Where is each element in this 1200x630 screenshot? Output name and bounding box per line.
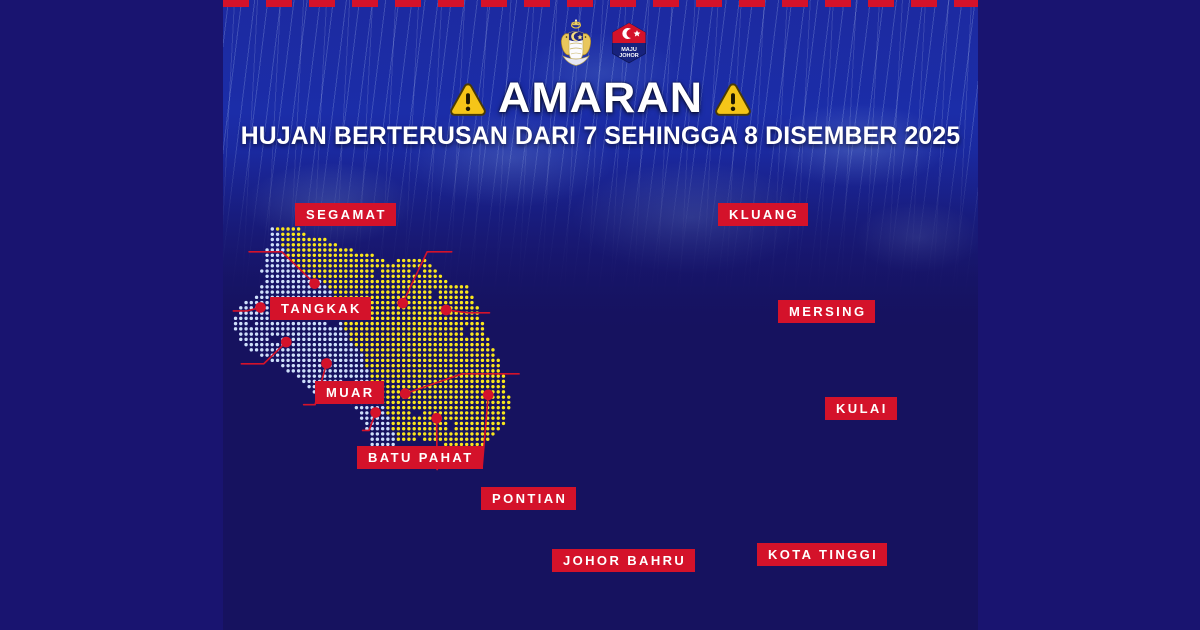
map-dot-warning [381, 322, 384, 325]
map-dot-warning [486, 432, 489, 435]
map-dot-normal [302, 338, 305, 341]
map-dot-normal [265, 332, 268, 335]
map-dot-warning [470, 364, 473, 367]
map-dot-warning [360, 332, 363, 335]
map-dot-warning [376, 364, 379, 367]
map-dot-warning [502, 374, 505, 377]
map-dot-normal [265, 296, 268, 299]
map-dot-warning [455, 401, 458, 404]
map-dot-warning [376, 322, 379, 325]
map-dot-normal [302, 353, 305, 356]
map-dot-warning [423, 380, 426, 383]
map-dot-normal [234, 327, 237, 330]
map-dot-warning [381, 285, 384, 288]
map-dot-normal [313, 369, 316, 372]
map-dot-warning [502, 395, 505, 398]
map-dot-warning [355, 322, 358, 325]
map-dot-warning [428, 416, 431, 419]
map-dot-warning [407, 306, 410, 309]
map-dot-warning [460, 390, 463, 393]
map-dot-normal [271, 327, 274, 330]
map-dot-warning [281, 243, 284, 246]
map-dot-normal [244, 317, 247, 320]
map-dot-normal [381, 406, 384, 409]
map-dot-normal [355, 369, 358, 372]
map-dot-normal [339, 353, 342, 356]
map-dot-normal [250, 343, 253, 346]
map-dot-warning [433, 332, 436, 335]
map-dot-warning [460, 348, 463, 351]
map-dot-warning [376, 332, 379, 335]
map-dot-warning [470, 427, 473, 430]
map-dot-warning [455, 385, 458, 388]
map-dot-warning [476, 338, 479, 341]
map-dot-warning [370, 374, 373, 377]
map-dot-warning [281, 233, 284, 236]
map-dot-normal [271, 269, 274, 272]
map-dot-normal [276, 243, 279, 246]
map-dot-warning [439, 427, 442, 430]
map-dot-warning [381, 296, 384, 299]
map-dot-normal [265, 348, 268, 351]
map-dot-warning [455, 369, 458, 372]
map-dot-warning [444, 374, 447, 377]
map-dot-normal [271, 348, 274, 351]
map-dot-warning [386, 322, 389, 325]
map-dot-warning [418, 359, 421, 362]
map-dot-warning [491, 380, 494, 383]
map-dot-warning [297, 227, 300, 230]
map-dot-warning [481, 406, 484, 409]
map-dot-warning [465, 422, 468, 425]
map-dot-warning [407, 332, 410, 335]
map-dot-warning [391, 374, 394, 377]
map-dot-warning [412, 348, 415, 351]
map-dot-warning [423, 338, 426, 341]
map-dot-normal [339, 332, 342, 335]
map-dot-warning [423, 359, 426, 362]
map-dot-normal [271, 233, 274, 236]
map-label-pontian[interactable]: PONTIAN [481, 487, 576, 510]
map-dot-warning [455, 364, 458, 367]
map-dot-warning [465, 374, 468, 377]
map-dot-warning [439, 280, 442, 283]
map-dot-warning [412, 380, 415, 383]
map-dot-warning [349, 254, 352, 257]
map-dot-warning [460, 427, 463, 430]
map-marker-kulai[interactable] [400, 388, 411, 399]
map-dot-warning [334, 264, 337, 267]
map-dot-normal [376, 432, 379, 435]
map-dot-warning [360, 280, 363, 283]
map-dot-warning [402, 343, 405, 346]
map-dot-warning [497, 422, 500, 425]
map-dot-warning [465, 369, 468, 372]
map-dot-warning [407, 359, 410, 362]
map-dot-warning [439, 317, 442, 320]
map-dot-warning [486, 427, 489, 430]
map-dot-warning [439, 285, 442, 288]
map-dot-warning [444, 401, 447, 404]
map-dot-normal [239, 306, 242, 309]
map-dot-warning [491, 369, 494, 372]
right-letterbox-panel [978, 0, 1200, 630]
map-dot-warning [476, 385, 479, 388]
map-dot-warning [418, 364, 421, 367]
map-dot-warning [418, 338, 421, 341]
map-dot-normal [260, 296, 263, 299]
map-dot-warning [349, 327, 352, 330]
map-dot-normal [307, 332, 310, 335]
map-dot-normal [244, 327, 247, 330]
map-label-kluang[interactable]: KLUANG [718, 203, 808, 226]
map-dot-normal [260, 343, 263, 346]
map-dot-warning [402, 338, 405, 341]
map-dot-normal [386, 422, 389, 425]
map-dot-warning [433, 285, 436, 288]
map-dot-warning [386, 343, 389, 346]
map-dot-warning [470, 369, 473, 372]
map-dot-warning [407, 264, 410, 267]
map-dot-normal [323, 353, 326, 356]
map-dot-warning [407, 338, 410, 341]
map-dot-warning [402, 327, 405, 330]
map-dot-warning [402, 348, 405, 351]
map-dot-warning [449, 285, 452, 288]
map-dot-warning [397, 311, 400, 314]
map-dot-warning [402, 422, 405, 425]
map-dot-warning [386, 380, 389, 383]
map-label-batu-pahat[interactable]: BATU PAHAT [357, 446, 483, 469]
map-dot-warning [391, 390, 394, 393]
map-dot-warning [407, 317, 410, 320]
map-dot-warning [349, 290, 352, 293]
map-dot-warning [481, 380, 484, 383]
map-dot-warning [407, 437, 410, 440]
map-marker-muar[interactable] [281, 337, 292, 348]
map-dot-warning [328, 264, 331, 267]
map-dot-warning [465, 406, 468, 409]
map-dot-warning [497, 411, 500, 414]
map-dot-warning [486, 359, 489, 362]
map-dot-warning [449, 437, 452, 440]
map-dot-warning [470, 416, 473, 419]
map-dot-normal [339, 338, 342, 341]
map-dot-warning [428, 322, 431, 325]
map-dot-warning [397, 269, 400, 272]
map-dot-warning [344, 254, 347, 257]
map-dot-warning [370, 327, 373, 330]
map-dot-warning [455, 427, 458, 430]
map-dot-normal [271, 332, 274, 335]
map-dot-normal [250, 332, 253, 335]
map-dot-warning [376, 301, 379, 304]
map-dot-normal [297, 285, 300, 288]
map-dot-warning [497, 395, 500, 398]
map-dot-warning [428, 301, 431, 304]
map-dot-warning [386, 275, 389, 278]
map-dot-warning [412, 359, 415, 362]
map-dot-warning [428, 296, 431, 299]
map-dot-warning [386, 353, 389, 356]
map-label-tangkak[interactable]: TANGKAK [270, 297, 371, 320]
map-dot-warning [339, 264, 342, 267]
map-dot-warning [455, 285, 458, 288]
map-dot-warning [402, 332, 405, 335]
map-dot-warning [339, 259, 342, 262]
map-dot-warning [412, 395, 415, 398]
map-dot-warning [460, 437, 463, 440]
map-dot-warning [476, 332, 479, 335]
map-dot-warning [428, 280, 431, 283]
map-marker-mersing[interactable] [441, 305, 452, 316]
map-dot-warning [470, 296, 473, 299]
map-dot-normal [239, 311, 242, 314]
map-dot-warning [334, 285, 337, 288]
map-dot-warning [328, 254, 331, 257]
map-dot-warning [381, 364, 384, 367]
map-dot-normal [381, 422, 384, 425]
map-dot-warning [397, 401, 400, 404]
map-dot-warning [292, 243, 295, 246]
map-dot-warning [502, 380, 505, 383]
map-dot-warning [423, 280, 426, 283]
map-dot-warning [386, 306, 389, 309]
map-dot-normal [386, 427, 389, 430]
map-dot-normal [297, 359, 300, 362]
map-dot-warning [433, 401, 436, 404]
map-dot-warning [502, 401, 505, 404]
map-dot-warning [423, 422, 426, 425]
map-dot-normal [302, 380, 305, 383]
map-dot-warning [276, 227, 279, 230]
map-dot-warning [481, 338, 484, 341]
map-dot-warning [444, 385, 447, 388]
map-dot-normal [328, 374, 331, 377]
map-dot-warning [491, 353, 494, 356]
map-dot-warning [444, 432, 447, 435]
map-dot-normal [244, 306, 247, 309]
map-dot-warning [407, 311, 410, 314]
map-dot-warning [418, 290, 421, 293]
map-dot-warning [470, 353, 473, 356]
map-dot-warning [323, 254, 326, 257]
map-dot-warning [460, 353, 463, 356]
map-dot-normal [260, 332, 263, 335]
map-dot-warning [439, 322, 442, 325]
map-dot-normal [260, 322, 263, 325]
map-dot-normal [255, 327, 258, 330]
map-dot-warning [449, 290, 452, 293]
map-dot-warning [402, 290, 405, 293]
map-dot-warning [386, 359, 389, 362]
map-dot-warning [381, 290, 384, 293]
map-dot-warning [423, 332, 426, 335]
map-dot-warning [344, 275, 347, 278]
map-dot-warning [323, 259, 326, 262]
map-dot-normal [276, 322, 279, 325]
map-dot-warning [412, 301, 415, 304]
map-dot-warning [476, 380, 479, 383]
map-dot-normal [302, 322, 305, 325]
map-dot-warning [365, 275, 368, 278]
map-dot-warning [407, 296, 410, 299]
map-dot-warning [412, 290, 415, 293]
map-dot-warning [418, 353, 421, 356]
map-dot-normal [349, 348, 352, 351]
map-dot-warning [423, 275, 426, 278]
map-dot-normal [313, 290, 316, 293]
map-dot-warning [407, 327, 410, 330]
map-dot-warning [476, 374, 479, 377]
map-label-muar[interactable]: MUAR [315, 381, 384, 404]
map-dot-warning [465, 380, 468, 383]
map-dot-normal [339, 327, 342, 330]
map-dot-warning [470, 374, 473, 377]
map-dot-normal [286, 369, 289, 372]
map-marker-batu-pahat[interactable] [321, 358, 332, 369]
map-dot-normal [281, 322, 284, 325]
map-dot-warning [433, 322, 436, 325]
map-marker-tangkak[interactable] [255, 302, 266, 313]
map-marker-segamat[interactable] [309, 278, 320, 289]
map-dot-normal [365, 406, 368, 409]
map-dot-warning [391, 338, 394, 341]
map-dot-warning [307, 248, 310, 251]
map-marker-johor-bahru[interactable] [431, 413, 442, 424]
map-label-johor-bahru[interactable]: JOHOR BAHRU [552, 549, 695, 572]
map-dot-warning [491, 406, 494, 409]
map-dot-warning [391, 401, 394, 404]
map-dot-warning [365, 327, 368, 330]
map-dot-warning [439, 369, 442, 372]
map-dot-normal [360, 411, 363, 414]
map-dot-warning [402, 432, 405, 435]
map-dot-warning [470, 437, 473, 440]
map-dot-warning [444, 437, 447, 440]
map-dot-warning [386, 301, 389, 304]
map-dot-warning [423, 343, 426, 346]
map-dot-normal [265, 254, 268, 257]
map-dot-normal [297, 374, 300, 377]
map-dot-warning [370, 285, 373, 288]
map-dot-warning [428, 338, 431, 341]
map-dot-warning [428, 364, 431, 367]
map-dot-normal [292, 353, 295, 356]
map-dot-warning [465, 348, 468, 351]
map-dot-warning [455, 380, 458, 383]
map-dot-warning [428, 427, 431, 430]
map-dot-normal [307, 290, 310, 293]
map-dot-warning [407, 427, 410, 430]
map-dot-normal [265, 290, 268, 293]
map-dot-warning [386, 285, 389, 288]
map-dot-normal [276, 280, 279, 283]
map-dot-warning [418, 332, 421, 335]
map-dot-normal [292, 290, 295, 293]
map-dot-normal [271, 254, 274, 257]
map-label-kota-tinggi[interactable]: KOTA TINGGI [757, 543, 887, 566]
map-dot-warning [449, 411, 452, 414]
map-dot-warning [444, 422, 447, 425]
map-dot-normal [244, 338, 247, 341]
map-dot-normal [334, 338, 337, 341]
map-dot-warning [402, 269, 405, 272]
map-label-segamat[interactable]: SEGAMAT [295, 203, 396, 226]
map-dot-warning [407, 275, 410, 278]
map-dot-normal [318, 322, 321, 325]
map-dot-warning [302, 238, 305, 241]
map-dot-warning [449, 296, 452, 299]
map-dot-warning [370, 369, 373, 372]
map-dot-warning [297, 243, 300, 246]
map-dot-warning [439, 343, 442, 346]
map-dot-warning [402, 364, 405, 367]
map-dot-warning [391, 296, 394, 299]
map-dot-warning [402, 411, 405, 414]
map-dot-warning [423, 432, 426, 435]
map-dot-warning [481, 332, 484, 335]
map-dot-warning [428, 401, 431, 404]
map-label-kulai[interactable]: KULAI [825, 397, 897, 420]
map-dot-warning [465, 353, 468, 356]
map-label-mersing[interactable]: MERSING [778, 300, 875, 323]
map-dot-normal [239, 332, 242, 335]
map-dot-warning [381, 332, 384, 335]
map-dot-warning [439, 338, 442, 341]
map-dot-warning [449, 432, 452, 435]
map-marker-pontian[interactable] [370, 407, 381, 418]
map-dot-warning [476, 343, 479, 346]
map-dot-warning [481, 359, 484, 362]
map-dot-warning [507, 406, 510, 409]
map-dot-warning [423, 348, 426, 351]
map-dot-warning [355, 332, 358, 335]
map-dot-warning [476, 306, 479, 309]
map-dot-warning [444, 301, 447, 304]
map-dot-normal [265, 269, 268, 272]
map-dot-warning [476, 364, 479, 367]
map-dot-warning [391, 359, 394, 362]
map-dot-warning [376, 369, 379, 372]
map-dot-normal [376, 422, 379, 425]
map-dot-warning [465, 364, 468, 367]
map-dot-normal [328, 343, 331, 346]
map-marker-kluang[interactable] [397, 298, 408, 309]
map-dot-warning [402, 275, 405, 278]
map-dot-normal [360, 353, 363, 356]
map-dot-warning [412, 264, 415, 267]
map-dot-normal [313, 327, 316, 330]
map-dot-warning [444, 317, 447, 320]
map-dot-normal [250, 327, 253, 330]
map-dot-warning [486, 385, 489, 388]
map-dot-warning [486, 437, 489, 440]
map-dot-warning [444, 359, 447, 362]
map-dot-warning [334, 275, 337, 278]
map-dot-normal [250, 301, 253, 304]
map-dot-warning [397, 427, 400, 430]
map-dot-warning [334, 290, 337, 293]
map-dot-warning [433, 369, 436, 372]
map-dot-warning [339, 248, 342, 251]
map-dot-warning [318, 243, 321, 246]
map-dot-normal [313, 359, 316, 362]
map-dot-warning [476, 317, 479, 320]
map-dot-normal [344, 332, 347, 335]
map-marker-kota-tinggi[interactable] [483, 390, 494, 401]
map-dot-warning [439, 390, 442, 393]
